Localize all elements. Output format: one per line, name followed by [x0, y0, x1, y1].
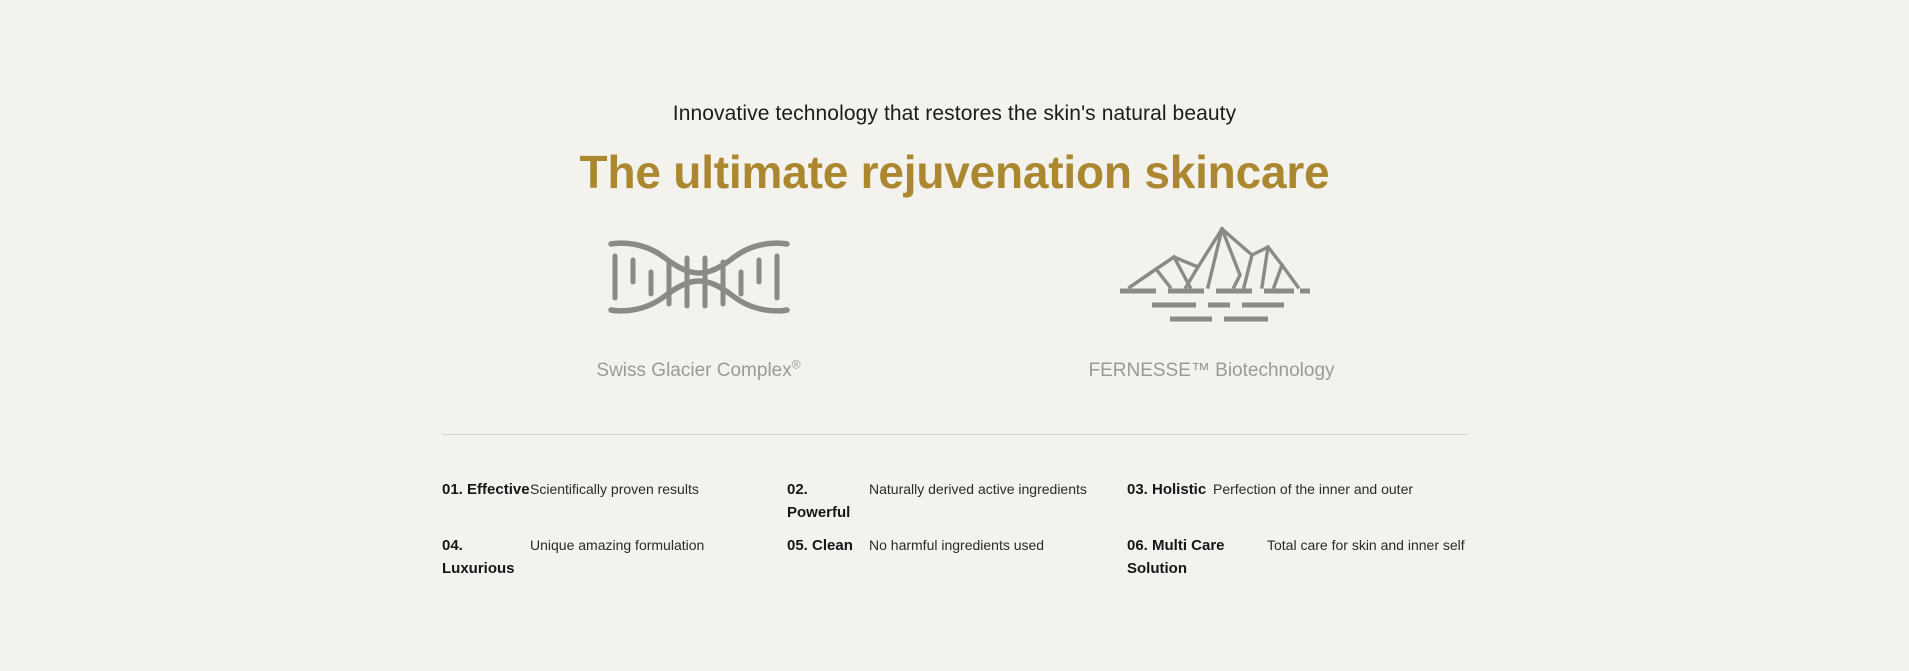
feature-grid: 01. Effective Scientifically proven resu… — [442, 478, 1468, 580]
feature-item-clean: 05. Clean No harmful ingredients used — [787, 534, 1127, 580]
eyebrow-text: Innovative technology that restores the … — [0, 100, 1909, 128]
dna-helix-icon — [599, 222, 799, 332]
feature-item-luxurious: 04. Luxurious Unique amazing formulation — [442, 534, 787, 580]
feature-title: 03. Holistic — [1127, 478, 1213, 501]
technology-caption: FERNESSE™ Biotechnology — [1088, 358, 1334, 384]
feature-title: 04. Luxurious — [442, 534, 530, 580]
feature-item-powerful: 02. Powerful Naturally derived active in… — [787, 478, 1127, 524]
feature-item-effective: 01. Effective Scientifically proven resu… — [442, 478, 787, 524]
section-divider — [442, 434, 1468, 435]
feature-description: Perfection of the inner and outer — [1213, 478, 1468, 501]
section-header: Innovative technology that restores the … — [0, 100, 1909, 201]
page-title: The ultimate rejuvenation skincare — [0, 143, 1909, 201]
registered-mark: ® — [792, 358, 801, 372]
feature-title: 05. Clean — [787, 534, 869, 557]
technology-item-fernesse-biotechnology: FERNESSE™ Biotechnology — [955, 222, 1468, 384]
feature-description: Unique amazing formulation — [530, 534, 787, 557]
feature-description: Total care for skin and inner self — [1267, 534, 1468, 557]
feature-item-multi-care-solution: 06. Multi Care Solution Total care for s… — [1127, 534, 1468, 580]
feature-description: No harmful ingredients used — [869, 534, 1127, 557]
feature-item-holistic: 03. Holistic Perfection of the inner and… — [1127, 478, 1468, 524]
technology-list: Swiss Glacier Complex® — [442, 222, 1468, 384]
technology-caption-text: Swiss Glacier Complex — [596, 360, 791, 381]
marketing-section: Innovative technology that restores the … — [0, 0, 1909, 671]
feature-description: Naturally derived active ingredients — [869, 478, 1127, 501]
feature-title: 01. Effective — [442, 478, 530, 501]
technology-caption: Swiss Glacier Complex® — [596, 358, 800, 384]
mountain-glacier-icon — [1112, 222, 1312, 332]
technology-caption-text: FERNESSE™ Biotechnology — [1088, 360, 1334, 381]
feature-title: 02. Powerful — [787, 478, 869, 524]
feature-description: Scientifically proven results — [530, 478, 787, 501]
feature-title: 06. Multi Care Solution — [1127, 534, 1267, 580]
technology-item-swiss-glacier-complex: Swiss Glacier Complex® — [442, 222, 955, 384]
